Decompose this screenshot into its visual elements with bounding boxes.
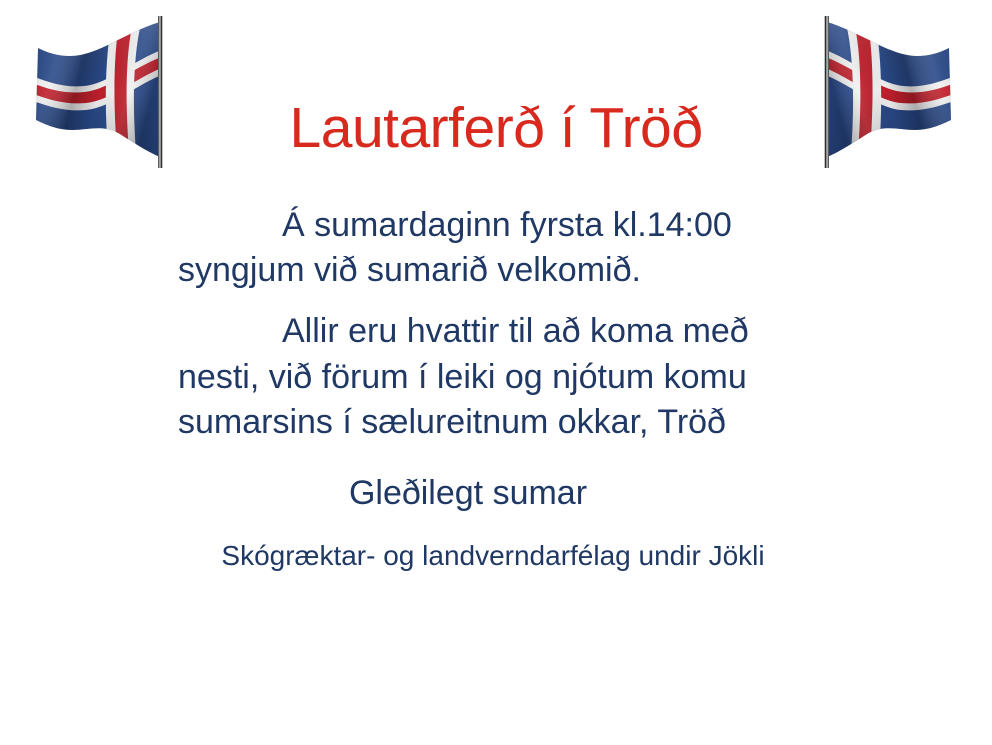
slide-canvas: Lautarferð í Tröð Á sumardaginn fyrsta k…	[0, 0, 992, 745]
body-paragraph-2: Allir eru hvattir til að koma með nesti,…	[178, 309, 818, 445]
slide-body: Á sumardaginn fyrsta kl.14:00 syngjum vi…	[178, 203, 818, 445]
organisation-signature: Skógræktar- og landverndarfélag undir Jö…	[0, 539, 992, 573]
body-paragraph-1: Á sumardaginn fyrsta kl.14:00 syngjum vi…	[178, 203, 818, 293]
closing-greeting: Gleðilegt sumar	[0, 473, 992, 514]
slide-title: Lautarferð í Tröð	[0, 98, 992, 160]
